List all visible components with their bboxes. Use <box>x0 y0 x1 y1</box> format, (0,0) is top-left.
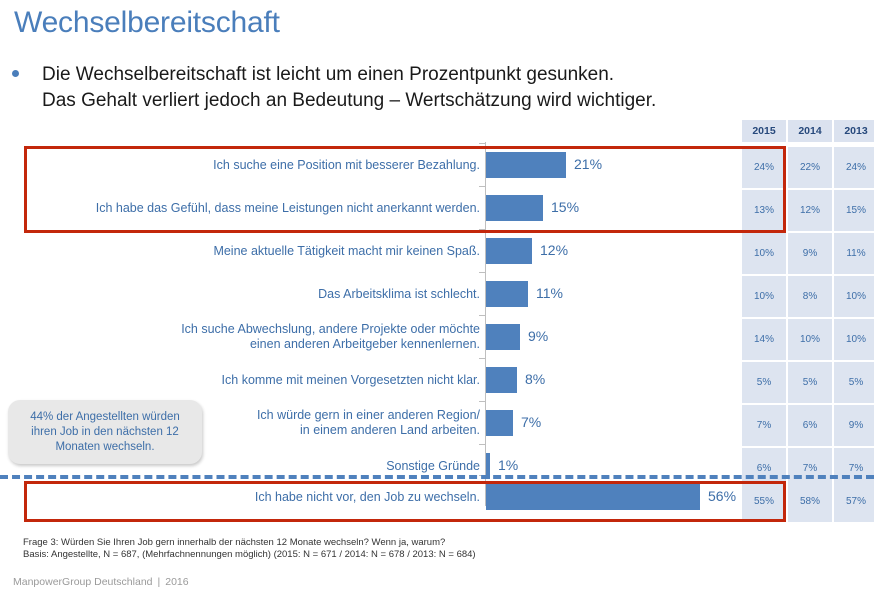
bar <box>486 484 700 510</box>
year-table-cell: 11% <box>834 233 874 274</box>
bar-category-label: Ich habe das Gefühl, dass meine Leistung… <box>96 201 480 216</box>
axis-tick <box>479 272 485 273</box>
year-table-cell: 7% <box>742 405 786 446</box>
axis-tick <box>479 315 485 316</box>
year-table-cell: 8% <box>788 276 832 317</box>
bar-category-label: Ich suche Abwechslung, andere Projekte o… <box>181 322 480 352</box>
axis-tick <box>479 444 485 445</box>
bar-value-label: 21% <box>574 156 602 172</box>
bar-category-label: Meine aktuelle Tätigkeit macht mir keine… <box>213 244 480 259</box>
bar-value-label: 9% <box>528 328 548 344</box>
year-column-header: 2015 <box>742 120 786 142</box>
bar-value-label: 56% <box>708 488 736 504</box>
brand-year: 2016 <box>165 576 188 588</box>
axis-tick <box>479 358 485 359</box>
year-table-cell: 10% <box>788 319 832 360</box>
bar-value-label: 1% <box>498 457 518 473</box>
bar <box>486 410 513 436</box>
bar-value-label: 12% <box>540 242 568 258</box>
year-column-header: 2013 <box>834 120 874 142</box>
bullet-dot-icon <box>12 70 19 77</box>
bar <box>486 367 517 393</box>
year-table-cell: 13% <box>742 190 786 231</box>
bar <box>486 281 528 307</box>
year-table-cell: 57% <box>834 481 874 522</box>
bullet-text: Die Wechselbereitschaft ist leicht um ei… <box>42 62 656 114</box>
year-table-cell: 10% <box>742 276 786 317</box>
year-table-cell: 6% <box>788 405 832 446</box>
year-table-cell: 10% <box>834 319 874 360</box>
source-note: Frage 3: Würden Sie Ihren Job gern inner… <box>23 537 476 561</box>
axis-tick <box>479 229 485 230</box>
year-table-cell: 10% <box>742 233 786 274</box>
slide-canvas: Wechselbereitschaft Die Wechselbereitsch… <box>0 0 874 600</box>
year-column-header: 2014 <box>788 120 832 142</box>
bar <box>486 152 566 178</box>
brand-footer: ManpowerGroup Deutschland|2016 <box>13 576 189 588</box>
bar-value-label: 7% <box>521 414 541 430</box>
year-table-cell: 58% <box>788 481 832 522</box>
bar-category-label: Sonstige Gründe <box>386 459 480 474</box>
axis-tick <box>479 186 485 187</box>
year-table-cell: 14% <box>742 319 786 360</box>
bar-category-label: Ich suche eine Position mit besserer Bez… <box>213 158 480 173</box>
bar-category-label: Ich komme mit meinen Vorgesetzten nicht … <box>222 373 480 388</box>
brand-name: ManpowerGroup Deutschland <box>13 576 153 588</box>
year-comparison-table: 20152014201324%22%24%13%12%15%10%9%11%10… <box>740 120 874 524</box>
year-table-cell: 15% <box>834 190 874 231</box>
axis-tick <box>479 143 485 144</box>
brand-separator: | <box>158 576 161 588</box>
bar <box>486 324 520 350</box>
bar-category-label: Ich habe nicht vor, den Job zu wechseln. <box>255 490 480 505</box>
callout-box: 44% der Angestellten würden ihren Job in… <box>8 400 202 464</box>
bar-value-label: 8% <box>525 371 545 387</box>
year-table-cell: 9% <box>788 233 832 274</box>
dashed-separator <box>0 475 874 479</box>
year-table-cell: 22% <box>788 147 832 188</box>
bar <box>486 238 532 264</box>
bar-category-label: Das Arbeitsklima ist schlecht. <box>318 287 480 302</box>
year-table-cell: 55% <box>742 481 786 522</box>
axis-tick <box>479 401 485 402</box>
year-table-cell: 5% <box>742 362 786 403</box>
year-table-cell: 24% <box>834 147 874 188</box>
year-table-cell: 5% <box>788 362 832 403</box>
year-table-cell: 24% <box>742 147 786 188</box>
year-table-cell: 5% <box>834 362 874 403</box>
year-table-cell: 12% <box>788 190 832 231</box>
bar-category-label: Ich würde gern in einer anderen Region/ … <box>257 408 480 438</box>
bar <box>486 195 543 221</box>
year-table-cell: 9% <box>834 405 874 446</box>
page-title: Wechselbereitschaft <box>14 6 280 40</box>
bar-value-label: 15% <box>551 199 579 215</box>
bar-value-label: 11% <box>536 285 563 301</box>
year-table-cell: 10% <box>834 276 874 317</box>
